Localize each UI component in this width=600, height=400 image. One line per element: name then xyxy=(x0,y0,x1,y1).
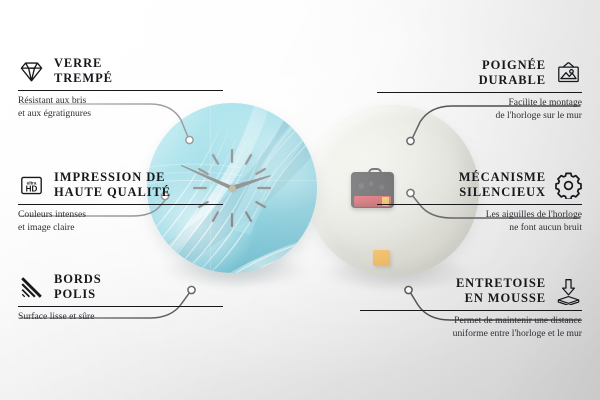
feature-title-line2: DURABLE xyxy=(479,73,546,87)
feature-poignee-durable[interactable]: POIGNÉE DURABLE Facilite le montage de l… xyxy=(377,58,582,122)
infographic-canvas: VERRE TREMPÉ Résistant aux bris et aux é… xyxy=(0,0,600,400)
feature-sub-line1: Surface lisse et sûre xyxy=(18,311,94,322)
gear-icon xyxy=(555,172,582,199)
polished-edges-icon xyxy=(18,274,45,301)
feature-sub-line1: Facilite le montage xyxy=(508,97,582,108)
feature-impression-haute-qualite[interactable]: ultra HD IMPRESSION DE HAUTE QUALITÉ Cou… xyxy=(18,170,223,234)
feature-entretoise-en-mousse[interactable]: ENTRETOISE EN MOUSSE Permet de maintenir… xyxy=(360,276,582,340)
feature-sub-line2: et image claire xyxy=(18,222,74,233)
feature-sub-line2: ne font aucun bruit xyxy=(509,222,582,233)
foam-spacer-icon xyxy=(555,278,582,305)
ultra-hd-icon: ultra HD xyxy=(18,172,45,199)
feature-mecanisme-silencieux[interactable]: MÉCANISME SILENCIEUX Les aiguilles de l'… xyxy=(377,170,582,234)
feature-sub-line1: Les aiguilles de l'horloge xyxy=(486,209,582,220)
ultra-hd-large-text: HD xyxy=(26,184,38,193)
diamond-icon xyxy=(18,58,45,85)
feature-bords-polis[interactable]: BORDS POLIS Surface lisse et sûre xyxy=(18,272,223,324)
foam-spacer-pad xyxy=(373,250,390,266)
feature-divider xyxy=(18,204,223,205)
feature-divider xyxy=(18,90,223,91)
feature-sub-line1: Couleurs intenses xyxy=(18,209,86,220)
feature-title-line2: SILENCIEUX xyxy=(459,185,546,199)
feature-title-line2: TREMPÉ xyxy=(54,71,113,85)
feature-verre-trempe[interactable]: VERRE TREMPÉ Résistant aux bris et aux é… xyxy=(18,56,223,120)
feature-title-line1: POIGNÉE xyxy=(482,58,546,72)
feature-divider xyxy=(18,306,223,307)
feature-title-line1: ENTRETOISE xyxy=(456,276,546,290)
feature-sub-line2: uniforme entre l'horloge et le mur xyxy=(453,328,582,339)
hands-center-cap xyxy=(229,185,236,192)
feature-sub-line1: Permet de maintenir une distance xyxy=(454,315,582,326)
feature-sub-line2: de l'horloge sur le mur xyxy=(496,110,582,121)
feature-title-line1: VERRE xyxy=(54,56,102,70)
feature-title-line2: HAUTE QUALITÉ xyxy=(54,185,171,199)
feature-title-line1: MÉCANISME xyxy=(459,170,546,184)
feature-divider xyxy=(377,92,582,93)
feature-sub-line1: Résistant aux bris xyxy=(18,95,86,106)
feature-title-line2: POLIS xyxy=(54,287,96,301)
feature-title-line1: IMPRESSION DE xyxy=(54,170,165,184)
feature-title-line1: BORDS xyxy=(54,272,102,286)
feature-title-line2: EN MOUSSE xyxy=(465,291,546,305)
feature-divider xyxy=(377,204,582,205)
feature-divider xyxy=(360,310,582,311)
feature-sub-line2: et aux égratignures xyxy=(18,108,91,119)
hanging-frame-icon xyxy=(555,60,582,87)
